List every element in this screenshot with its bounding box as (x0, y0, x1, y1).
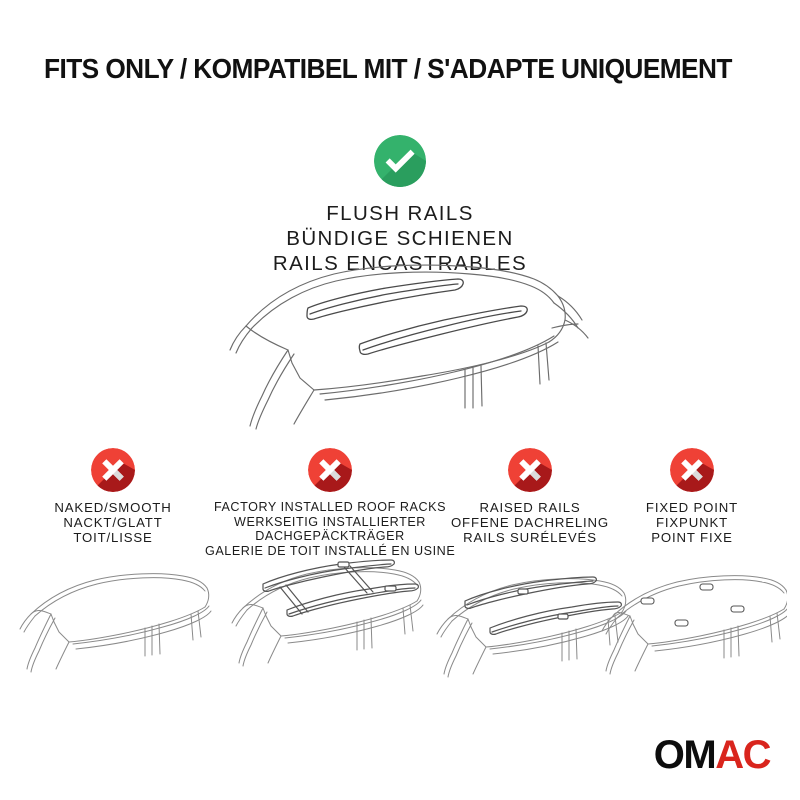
x-circle-icon (91, 448, 135, 492)
option-label-de-2: DACHGEPÄCKTRÄGER (205, 529, 455, 544)
x-circle-icon (308, 448, 352, 492)
option-label-en: FIXED POINT (600, 500, 784, 515)
page-title: FITS ONLY / KOMPATIBEL MIT / S'ADAPTE UN… (44, 53, 728, 85)
option-label-en: NAKED/SMOOTH (13, 500, 213, 515)
compatible-section: FLUSH RAILS BÜNDIGE SCHIENEN RAILS ENCAS… (0, 135, 800, 276)
option-naked-smooth: NAKED/SMOOTH NACKT/GLATT TOIT/LISSE (13, 448, 213, 546)
option-factory-roof-racks: FACTORY INSTALLED ROOF RACKS WERKSEITIG … (205, 448, 455, 558)
option-label-de: NACKT/GLATT (13, 515, 213, 530)
compatible-label-de: BÜNDIGE SCHIENEN (0, 226, 800, 251)
badge-wrap (205, 448, 455, 494)
compatibility-infographic: FITS ONLY / KOMPATIBEL MIT / S'ADAPTE UN… (0, 0, 800, 800)
option-labels: NAKED/SMOOTH NACKT/GLATT TOIT/LISSE (13, 500, 213, 546)
car-roof-flush-rails-illustration (222, 258, 592, 438)
omac-logo-dark-text: OM (654, 735, 715, 775)
option-fixed-point: FIXED POINT FIXPUNKT POINT FIXE (600, 448, 784, 546)
omac-logo-accent-text: AC (715, 735, 770, 775)
option-label-de-1: WERKSEITIG INSTALLIERTER (205, 515, 455, 530)
car-roof-factory-rack-illustration (225, 548, 435, 688)
option-label-fr: POINT FIXE (600, 530, 784, 545)
option-label-fr: TOIT/LISSE (13, 530, 213, 545)
omac-logo: OM AC (654, 735, 770, 775)
option-labels: FIXED POINT FIXPUNKT POINT FIXE (600, 500, 784, 546)
compatible-label-en: FLUSH RAILS (0, 201, 800, 226)
check-circle-icon (374, 135, 426, 187)
option-label-de: FIXPUNKT (600, 515, 784, 530)
badge-wrap (13, 448, 213, 494)
badge-wrap (600, 448, 784, 494)
x-circle-icon (508, 448, 552, 492)
car-roof-naked-illustration (13, 564, 213, 694)
option-label-en: FACTORY INSTALLED ROOF RACKS (205, 500, 455, 515)
x-circle-icon (670, 448, 714, 492)
car-roof-fixed-point-illustration (597, 564, 787, 694)
